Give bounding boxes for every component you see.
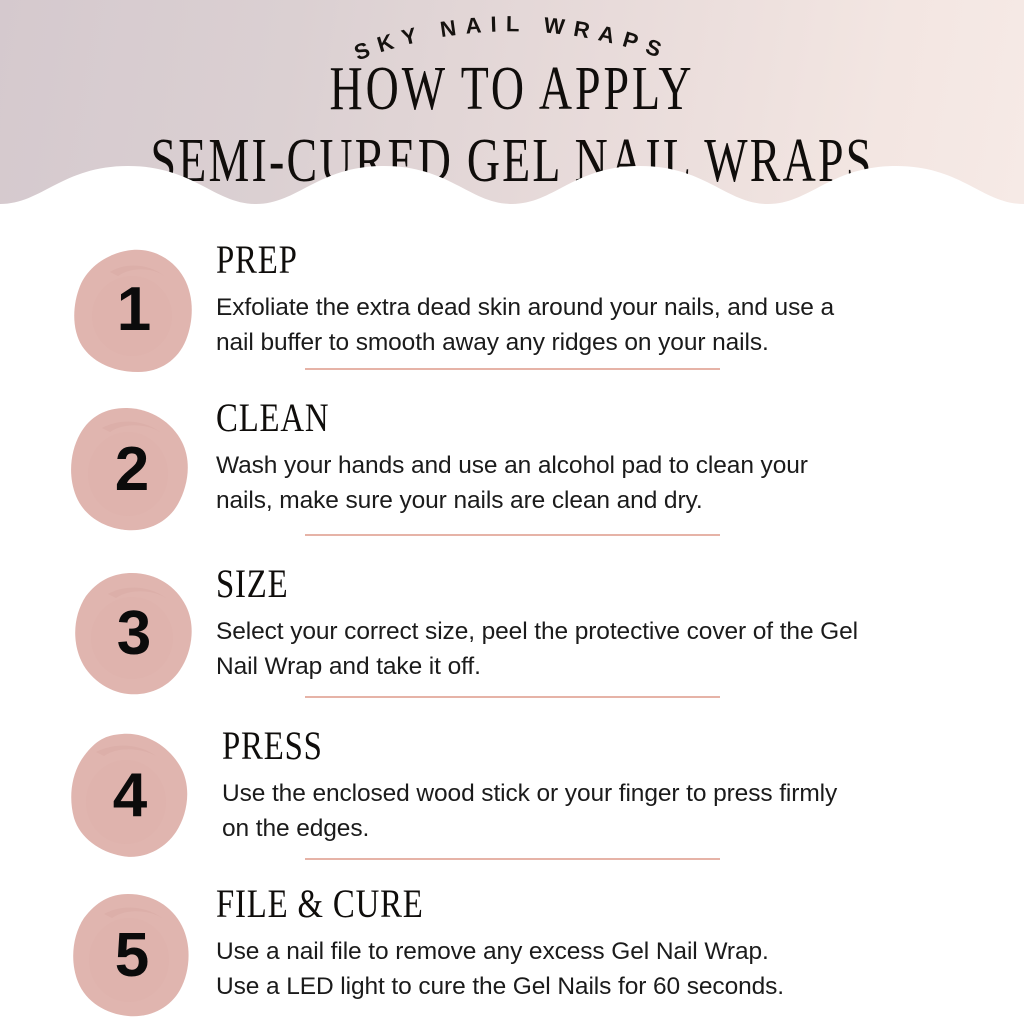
step-text-block: CLEAN Wash your hands and use an alcohol… [216, 398, 976, 519]
step-number-badge: 2 [68, 406, 196, 534]
step-heading: SIZE [216, 564, 839, 604]
step-divider [305, 368, 720, 370]
step-number-badge: 1 [70, 246, 198, 374]
step-body: Use a nail file to remove any excess Gel… [216, 935, 976, 1005]
header-banner: SKY NAIL WRAPS HOW TO APPLY SEMI-CURED G… [0, 0, 1024, 232]
step-text-block: SIZE Select your correct size, peel the … [216, 564, 976, 685]
step-heading: CLEAN [216, 398, 839, 438]
step-heading: PREP [216, 240, 839, 280]
title-line-1: HOW TO APPLY [133, 58, 891, 120]
step-number: 3 [70, 570, 198, 698]
step-text-block: PRESS Use the enclosed wood stick or you… [222, 726, 982, 847]
step-text-block: FILE & CURE Use a nail file to remove an… [216, 884, 976, 1005]
step-body: Exfoliate the extra dead skin around you… [216, 291, 976, 361]
step-divider [305, 534, 720, 536]
wave-divider-icon [0, 160, 1024, 232]
step-divider [305, 858, 720, 860]
step-number: 4 [66, 732, 194, 860]
step-number: 5 [68, 892, 196, 1020]
step-text-block: PREP Exfoliate the extra dead skin aroun… [216, 240, 976, 361]
step-number-badge: 4 [66, 732, 194, 860]
step-heading: PRESS [222, 726, 845, 766]
step-number-badge: 3 [70, 570, 198, 698]
step-number-badge: 5 [68, 892, 196, 1020]
step-number: 2 [68, 406, 196, 534]
infographic-page: SKY NAIL WRAPS HOW TO APPLY SEMI-CURED G… [0, 0, 1024, 1024]
step-heading: FILE & CURE [216, 884, 839, 924]
step-body: Wash your hands and use an alcohol pad t… [216, 449, 976, 519]
step-body: Use the enclosed wood stick or your fing… [222, 777, 982, 847]
step-divider [305, 696, 720, 698]
step-number: 1 [70, 246, 198, 374]
step-body: Select your correct size, peel the prote… [216, 615, 976, 685]
